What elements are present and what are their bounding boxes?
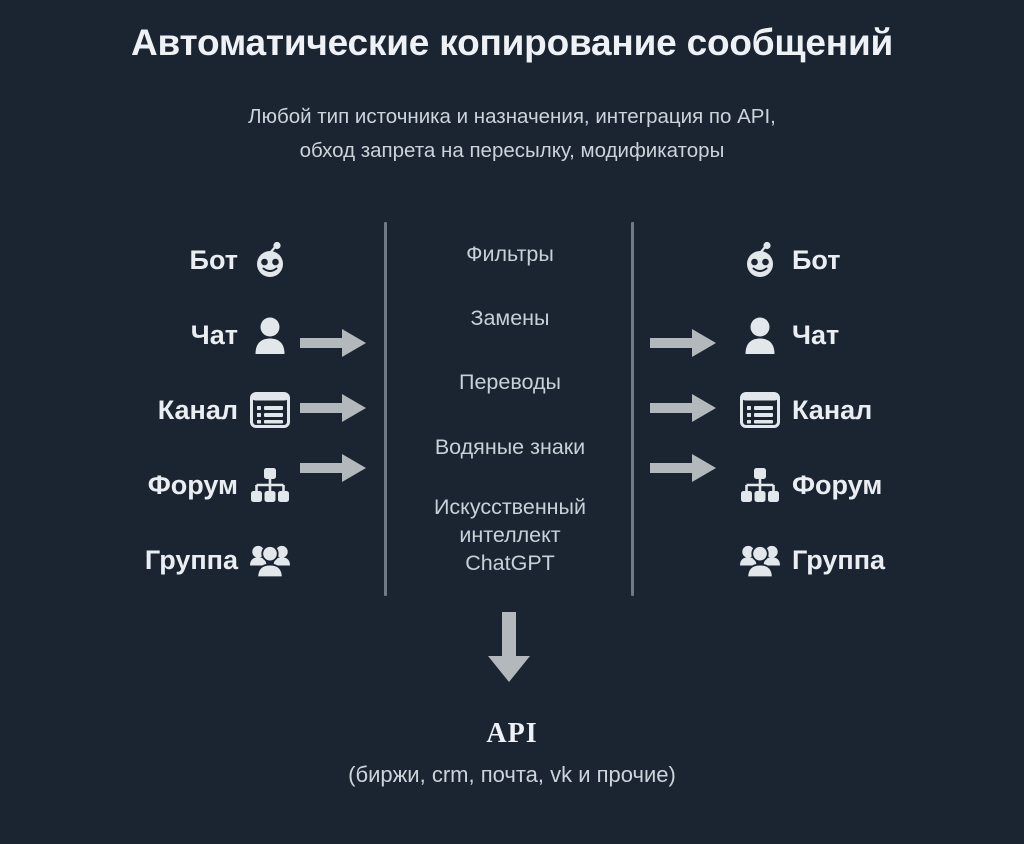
destination-node-forum[interactable]: Форум [740,465,882,505]
reddit-snoo-icon [740,240,780,280]
source-label-group: Группа [145,547,238,574]
modifier-translations: Переводы [390,368,630,396]
destination-label-forum: Форум [792,472,882,499]
subtitle-line-1: Любой тип источника и назначения, интегр… [0,100,1024,134]
users-group-icon [250,540,290,580]
source-node-chat[interactable]: Чат [191,315,290,355]
source-label-chat: Чат [191,322,238,349]
modifier-ai-line-3: ChatGPT [390,549,630,577]
divider-left [384,222,387,596]
destination-label-chat: Чат [792,322,839,349]
api-title: API [0,718,1024,750]
source-node-forum[interactable]: Форум [148,465,290,505]
sitemap-icon [250,465,290,505]
source-node-bot[interactable]: Бот [190,240,290,280]
arrow-source-chat-icon [300,328,366,358]
destinations-column: Бот Чат [740,222,990,596]
destination-label-bot: Бот [792,247,840,274]
user-icon [740,315,780,355]
page-title: Автоматические копирование сообщений [0,22,1024,64]
api-subtitle: (биржи, crm, почта, vk и прочие) [0,762,1024,788]
sources-column: Бот Чат Канал [60,222,290,596]
arrow-source-channel-icon [300,393,366,423]
modifier-ai-line-1: Искусственный [390,493,630,521]
source-node-group[interactable]: Группа [145,540,290,580]
channel-list-icon [740,390,780,430]
modifier-ai-line-2: интеллект [390,521,630,549]
arrow-dest-forum-icon [650,453,716,483]
users-group-icon [740,540,780,580]
sitemap-icon [740,465,780,505]
source-label-forum: Форум [148,472,238,499]
channel-list-icon [250,390,290,430]
infographic-canvas: Автоматические копирование сообщений Люб… [0,0,1024,844]
destination-label-channel: Канал [792,397,872,424]
source-label-channel: Канал [158,397,238,424]
arrow-dest-channel-icon [650,393,716,423]
reddit-snoo-icon [250,240,290,280]
modifier-ai-chatgpt: Искусственный интеллект ChatGPT [390,493,630,577]
source-node-channel[interactable]: Канал [158,390,290,430]
destination-node-group[interactable]: Группа [740,540,885,580]
destination-node-bot[interactable]: Бот [740,240,840,280]
modifier-replaces: Замены [390,304,630,332]
destination-node-channel[interactable]: Канал [740,390,872,430]
destination-node-chat[interactable]: Чат [740,315,839,355]
modifiers-column: Фильтры Замены Переводы Водяные знаки Ис… [390,222,630,596]
subtitle-line-2: обход запрета на пересылку, модификаторы [0,134,1024,168]
divider-right [631,222,634,596]
page-subtitle: Любой тип источника и назначения, интегр… [0,100,1024,168]
arrow-source-forum-icon [300,453,366,483]
destination-label-group: Группа [792,547,885,574]
arrow-down-icon [487,612,531,682]
user-icon [250,315,290,355]
arrow-dest-chat-icon [650,328,716,358]
modifier-filters: Фильтры [390,240,630,268]
source-label-bot: Бот [190,247,238,274]
modifier-watermarks: Водяные знаки [390,433,630,461]
